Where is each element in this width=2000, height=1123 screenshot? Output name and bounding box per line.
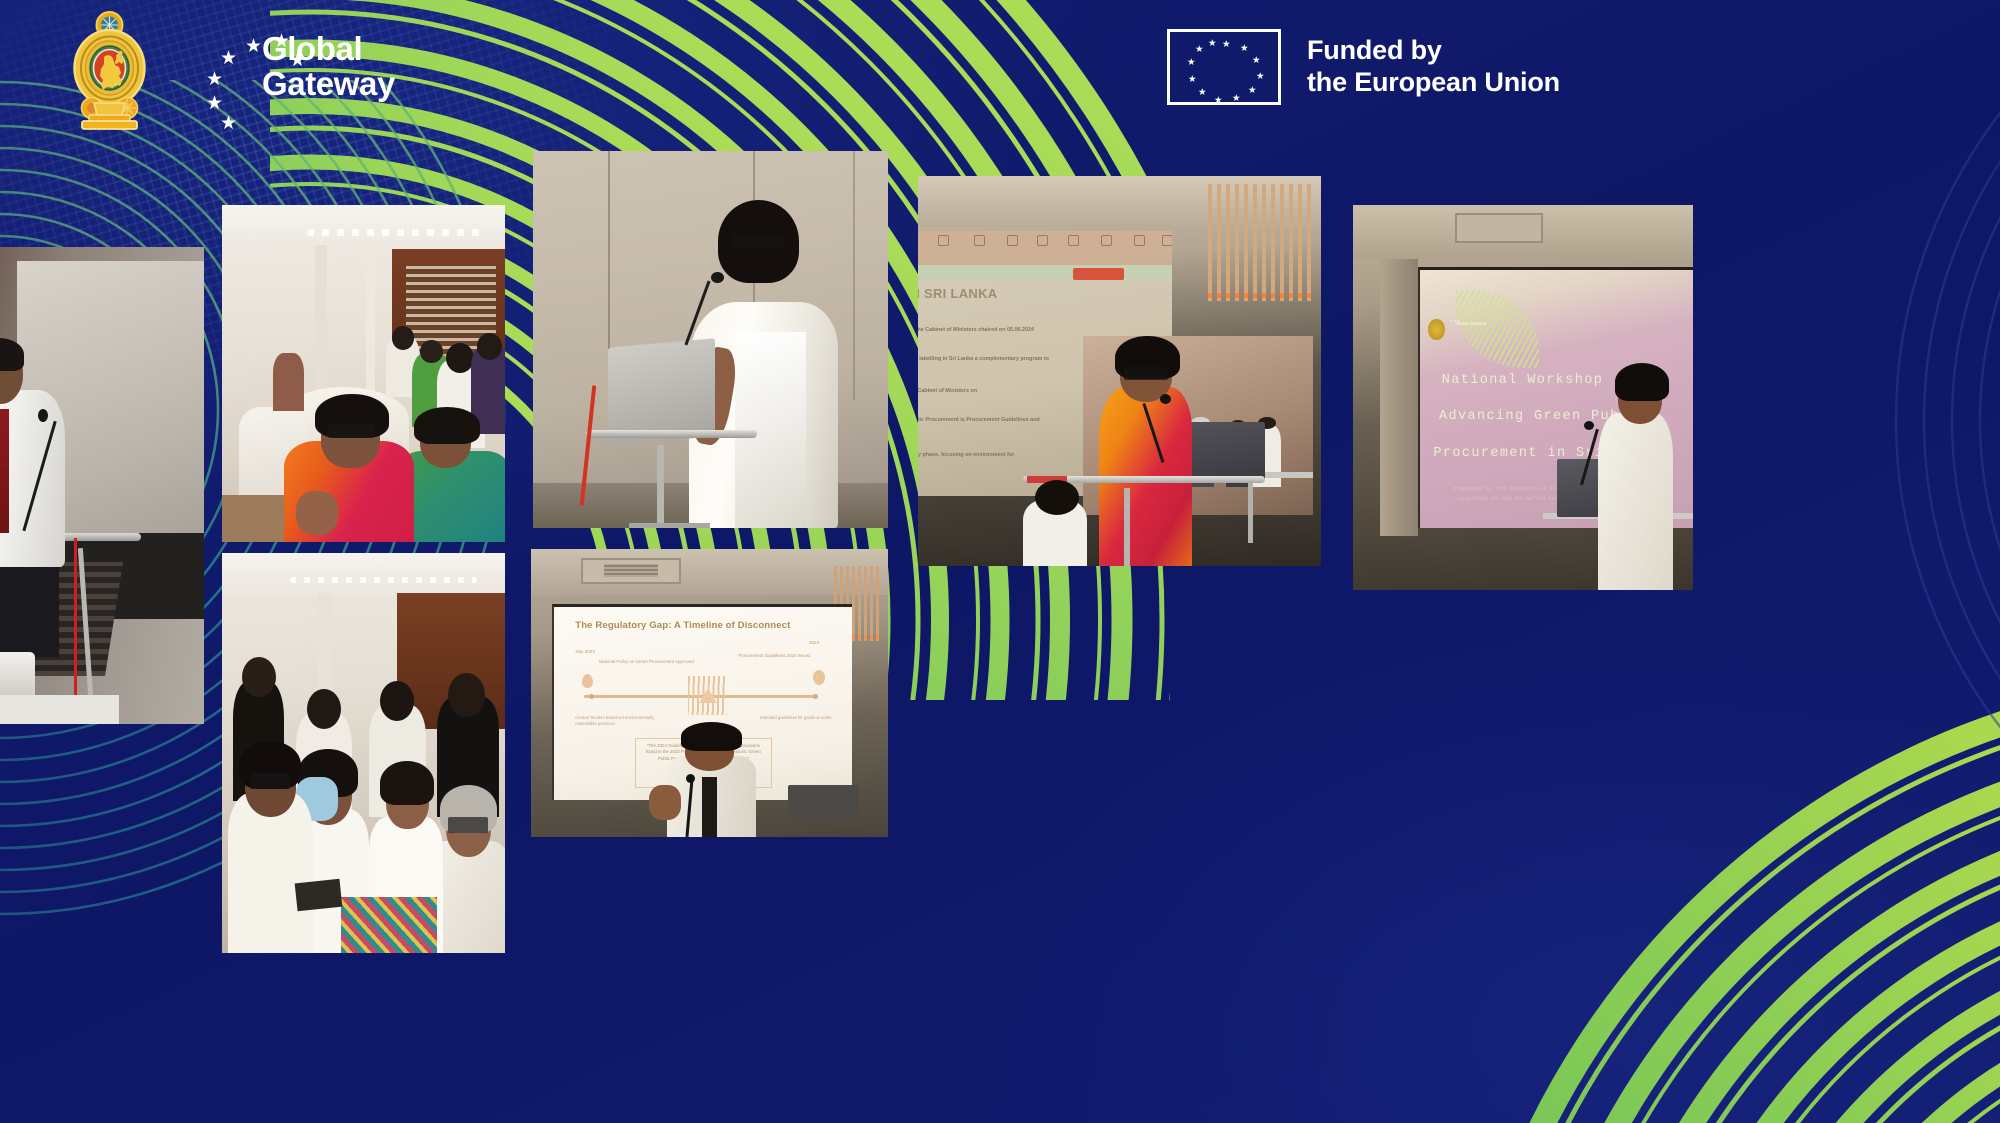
podium-top — [586, 430, 756, 438]
podium-leg — [1124, 488, 1130, 566]
presenter-glasses — [732, 234, 785, 249]
screen-share-bar — [918, 265, 1172, 281]
share-screen-icon — [1101, 235, 1112, 246]
mute-icon — [938, 235, 949, 246]
slide-title: The Regulatory Gap: A Timeline of Discon… — [575, 620, 837, 631]
speaker-trousers — [0, 552, 59, 657]
sri-lanka-crest-icon — [1428, 319, 1445, 340]
record-icon — [1134, 235, 1145, 246]
timeline-pin-left-icon — [582, 674, 593, 688]
air-conditioner-vent — [1455, 213, 1543, 244]
global-gateway-leaf-watermark — [1456, 290, 1539, 368]
warning-triangle-icon — [699, 688, 717, 703]
global-gateway-line-1: Global — [262, 32, 395, 67]
presenter-raised-hand — [649, 785, 681, 820]
air-conditioner-vent — [581, 558, 681, 584]
slide-bullet-4: Public Procurement is Procurement Guidel… — [918, 416, 1050, 424]
clapping-hands — [296, 491, 338, 535]
microphone-head — [711, 272, 724, 283]
eu-funding-logo: ★ ★ ★ ★ ★ ★ ★ ★ ★ ★ ★ ★ Funded by the Eu… — [1167, 29, 1560, 105]
presenter-hair — [1615, 363, 1669, 402]
side-table-leg — [1248, 480, 1253, 542]
microphone-head — [686, 774, 695, 783]
pillar-right — [366, 245, 374, 400]
annotate-icon — [1068, 235, 1079, 246]
participants-icon — [1007, 235, 1018, 246]
attendee-orange-sari-glasses — [327, 424, 375, 437]
photo-woman-presenting-podium — [533, 151, 888, 528]
chat-icon — [1037, 235, 1048, 246]
eu-flag-icon: ★ ★ ★ ★ ★ ★ ★ ★ ★ ★ ★ ★ — [1167, 29, 1281, 105]
photo-woman-podium-sri-lanka-slide: N SRI LANKA by the Cabinet of Ministers … — [918, 176, 1321, 566]
stop-recording-button[interactable] — [1073, 268, 1124, 280]
slide-heading: N SRI LANKA — [918, 286, 997, 301]
attendee-front-1 — [228, 793, 313, 953]
wall-seam-3 — [853, 151, 855, 400]
presentation-toolbar — [918, 231, 1172, 265]
attendee-row2-4-head — [448, 673, 485, 717]
microphone-head — [38, 409, 48, 422]
photo-speaker-at-lectern-left — [0, 247, 204, 724]
video-icon — [974, 235, 985, 246]
timeline-note-right: Standard guidelines for goods & works — [742, 715, 831, 721]
attendee-front-3-hair — [380, 761, 434, 805]
timeline-date-right: 2024 — [809, 641, 820, 646]
presenter-hair — [681, 722, 742, 751]
laptop — [788, 785, 859, 820]
slide-bullet-1: by the Cabinet of Ministers chaired on 0… — [918, 326, 1050, 334]
attendee-row2-1-head — [242, 657, 276, 697]
photo-audience-clapping — [222, 205, 505, 542]
global-gateway-logo: ★ ★ ★ ★ ★ ★ ★ Global Gateway — [203, 30, 433, 130]
slide-bullet-2: Eco labelling in Sri Lanka a complementa… — [918, 355, 1050, 363]
attendee-front-4-glasses — [448, 817, 488, 833]
photo-audience-seated-front-row — [222, 553, 505, 953]
ceiling-lights — [307, 229, 482, 236]
table — [0, 695, 119, 724]
chandelier-lights — [1208, 293, 1313, 298]
attendee-back-2-head — [392, 326, 415, 350]
attendee-back-3-head — [420, 340, 443, 364]
speaker-glasses — [1124, 367, 1168, 380]
timeline-label-left: National Policy on Green Procurement App… — [599, 659, 706, 665]
slide-bullet-5: atory phase, focusing on environment for — [918, 451, 1050, 459]
slide-title-line-1: National Workshop — [1442, 373, 1604, 388]
batik-fabric — [341, 897, 437, 953]
timeline-dot-left — [589, 694, 594, 699]
timeline-label-right: Procurement Guidelines 2024 Issued — [703, 653, 810, 659]
sri-lanka-government-emblem — [58, 11, 161, 132]
tablet-device — [294, 879, 342, 912]
pillar-left — [315, 245, 326, 400]
timeline-note-left: Central Tenders Board set environmentall… — [575, 715, 658, 728]
timeline-pin-right-icon — [813, 670, 825, 685]
slide-bullet-3: the Cabinet of Ministers on — [918, 387, 1050, 395]
presenter-shirt — [1598, 413, 1673, 590]
attendee-back-5-head — [477, 333, 502, 360]
presenter-tie — [702, 777, 716, 837]
microphone-head — [1584, 421, 1594, 430]
more-icon — [1162, 235, 1172, 246]
speaker-tie — [0, 409, 9, 533]
chandelier — [1208, 184, 1313, 301]
eu-funding-text: Funded by the European Union — [1307, 35, 1560, 99]
podium-leg — [657, 445, 664, 528]
global-gateway-line-2: Gateway — [262, 67, 395, 102]
pillar — [1380, 259, 1417, 536]
speaker-shirt — [0, 390, 65, 566]
photo-title-slide-presenter: ✦✦✦ Global Gateway National Workshop Adv… — [1353, 205, 1693, 590]
global-gateway-mark: Global Gateway — [1456, 321, 1487, 327]
global-gateway-wordmark: Global Gateway — [262, 32, 395, 102]
attendee-back-1 — [273, 353, 304, 410]
attendee-row2-2-head — [307, 689, 341, 729]
timeline-date-left: July 2022 — [575, 649, 595, 654]
attendee-green-sari-glasses — [423, 431, 465, 444]
attendee-front-1-glasses — [250, 773, 290, 789]
podium-base — [629, 523, 711, 528]
photo-regulatory-gap-slide: The Regulatory Gap: A Timeline of Discon… — [531, 549, 888, 837]
ceiling-lights — [290, 577, 477, 583]
timeline-dot-right — [813, 694, 818, 699]
